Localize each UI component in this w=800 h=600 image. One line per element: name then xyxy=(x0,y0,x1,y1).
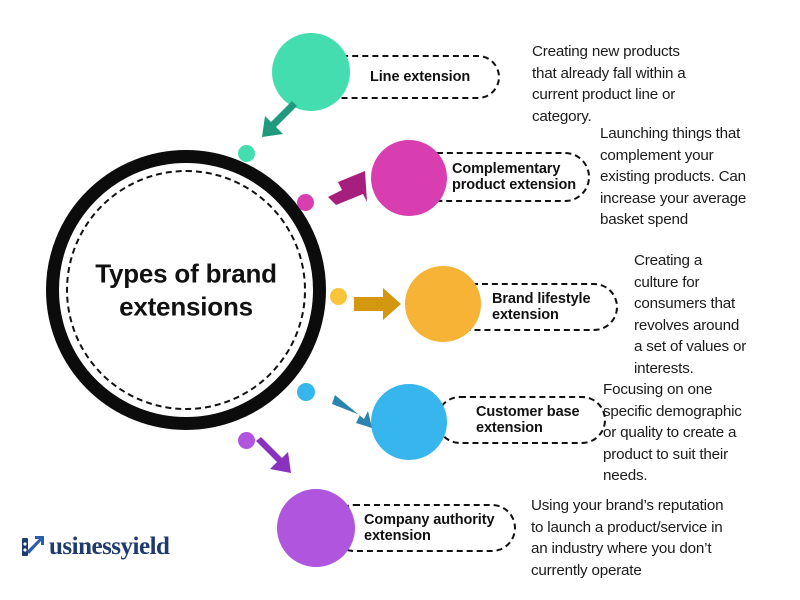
logo-mark-icon xyxy=(22,533,48,559)
arrow-line-extension xyxy=(256,100,300,146)
description-customer-base-extension: Focusing on one specific demographic or … xyxy=(603,379,800,487)
arrow-brand-lifestyle-extension xyxy=(354,287,402,321)
description-line-extension: Creating new products that already fall … xyxy=(532,41,782,127)
center-hub: Types of brand extensions xyxy=(46,150,326,430)
description-brand-lifestyle-extension: Creating a culture for consumers that re… xyxy=(634,250,799,379)
label-pill-customer-base-extension[interactable]: Customer base extension xyxy=(436,396,606,444)
bubble-brand-lifestyle-extension[interactable] xyxy=(405,266,481,342)
label-pill-company-authority-extension[interactable]: Company authority extension xyxy=(330,504,516,552)
arrow-company-authority-extension xyxy=(253,435,297,483)
ring-dot-brand-lifestyle-extension xyxy=(330,288,347,305)
label-text-brand-lifestyle-extension: Brand lifestyle extension xyxy=(492,291,590,323)
label-text-complementary-product-extension: Complementary product extension xyxy=(452,161,576,193)
label-text-company-authority-extension: Company authority extension xyxy=(364,512,494,544)
logo-text: usinessyield xyxy=(49,534,169,559)
page-title: Types of brand extensions xyxy=(76,258,296,323)
description-company-authority-extension: Using your brand’s reputation to launch … xyxy=(531,495,800,581)
businessyield-logo[interactable]: usinessyield xyxy=(22,533,169,559)
bubble-complementary-product-extension[interactable] xyxy=(371,140,447,216)
bubble-company-authority-extension[interactable] xyxy=(277,489,355,567)
infographic-canvas: Types of brand extensions Line extension… xyxy=(0,0,800,600)
bubble-customer-base-extension[interactable] xyxy=(371,384,447,460)
description-complementary-product-extension: Launching things that complement your ex… xyxy=(600,123,800,231)
ring-dot-complementary-product-extension xyxy=(297,194,314,211)
label-text-customer-base-extension: Customer base extension xyxy=(476,404,579,436)
arrow-complementary-product-extension xyxy=(325,168,370,208)
ring-dot-line-extension xyxy=(238,145,255,162)
ring-dot-customer-base-extension xyxy=(297,383,315,401)
label-text-line-extension: Line extension xyxy=(370,69,470,85)
arrow-customer-base-extension xyxy=(330,392,375,432)
ring-dot-company-authority-extension xyxy=(238,432,255,449)
